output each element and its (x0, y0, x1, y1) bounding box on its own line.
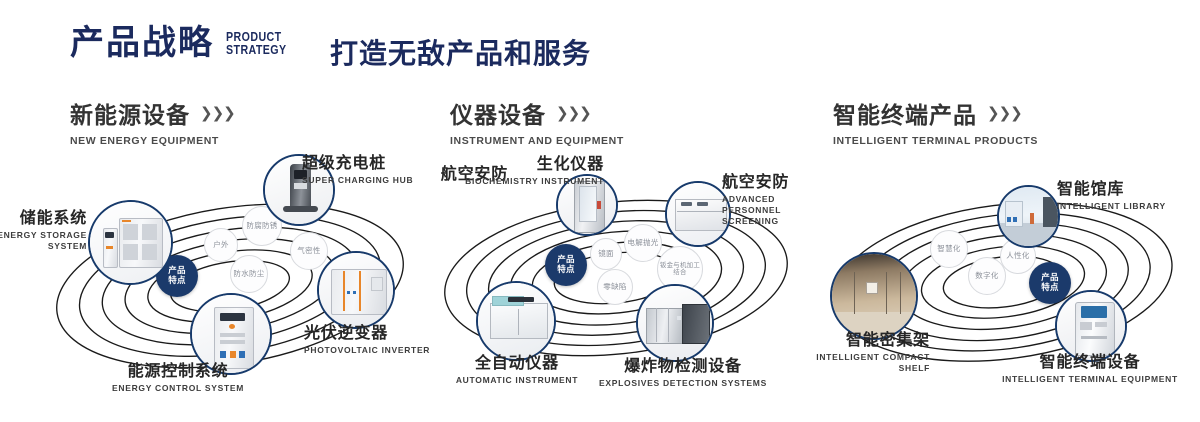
node-label-cn: 生化仪器 (444, 156, 604, 174)
diagram-instrument: 产品 特点 镜面 电解抛光 钣金与机加工结合 零缺陷 (420, 150, 820, 412)
core-badge-line2: 特点 (557, 265, 575, 275)
page-title: 产品战略 (70, 26, 214, 60)
node-label-cn: 超级充电桩 (302, 155, 413, 173)
photo-energy-storage (90, 202, 171, 283)
section-title-cn: 智能终端产品 ❯❯❯ (833, 96, 1038, 130)
node-label-terminal-equipment: 智能终端设备 INTELLIGENT TERMINAL EQUIPMENT (995, 354, 1185, 385)
photo-pv-inverter (319, 253, 393, 327)
photo-automatic-instrument (478, 283, 554, 359)
section-title-new-energy: 新能源设备 ❯❯❯ NEW ENERGY EQUIPMENT (70, 96, 235, 147)
photo-terminal-equipment (1057, 292, 1125, 360)
node-label-energy-control: 能源控制系统 ENERGY CONTROL SYSTEM (88, 363, 268, 394)
feature-circle-smart: 智慧化 (930, 230, 968, 268)
node-label-biochemistry: 生化仪器 BIOCHEMISTRY INSTRUMENT (444, 156, 604, 187)
photo-bubble-terminal-equipment[interactable] (1055, 290, 1127, 362)
section-title-cn: 新能源设备 ❯❯❯ (70, 96, 235, 130)
node-label-automatic-instrument: 全自动仪器 AUTOMATIC INSTRUMENT (436, 355, 598, 386)
node-label-en: ENERGY CONTROL SYSTEM (88, 383, 268, 394)
section-title-cn: 仪器设备 ❯❯❯ (450, 96, 624, 130)
photo-bubble-intelligent-library[interactable] (997, 185, 1060, 248)
section-title-en: NEW ENERGY EQUIPMENT (70, 135, 235, 147)
node-label-intelligent-library: 智能馆库 INTELLIGENT LIBRARY (1057, 181, 1166, 212)
header-title-block: 产品战略 PRODUCT STRATEGY (70, 26, 300, 60)
section-title-cn-text: 智能终端产品 (833, 96, 977, 130)
photo-bubble-pv-inverter[interactable] (317, 251, 395, 329)
node-label-compact-shelf: 智能密集架 INTELLIGENT COMPACT SHELF (790, 332, 930, 374)
section-title-intelligent-terminal: 智能终端产品 ❯❯❯ INTELLIGENT TERMINAL PRODUCTS (833, 96, 1038, 147)
photo-explosives-detection (638, 286, 712, 360)
diagram-intelligent-terminal: 智慧化 数字化 人性化 产品 特点 (810, 150, 1200, 412)
feature-circle-waterproof: 防水防尘 (230, 255, 268, 293)
node-label-energy-storage: 储能系统 ENERGY STORAGE SYSTEM (0, 210, 87, 252)
section-title-en: INSTRUMENT AND EQUIPMENT (450, 135, 624, 147)
page-slogan: 打造无敌产品和服务 (330, 32, 591, 72)
chevron-right-icon: ❯❯❯ (987, 104, 1022, 122)
photo-screening (667, 183, 729, 245)
photo-bubble-automatic-instrument[interactable] (476, 281, 556, 361)
page-title-english-line2: STRATEGY (226, 43, 287, 56)
node-label-en: AUTOMATIC INSTRUMENT (436, 375, 598, 386)
section-title-en: INTELLIGENT TERMINAL PRODUCTS (833, 135, 1038, 147)
node-label-en: EXPLOSIVES DETECTION SYSTEMS (598, 378, 768, 389)
node-label-en: INTELLIGENT COMPACT SHELF (790, 352, 930, 373)
feature-circle-mirror: 镜面 (590, 238, 622, 270)
chevron-right-icon: ❯❯❯ (556, 104, 591, 122)
node-label-cn: 储能系统 (0, 210, 87, 228)
node-label-en: SUPER CHARGING HUB (302, 175, 413, 186)
poster-canvas: 产品战略 PRODUCT STRATEGY 打造无敌产品和服务 新能源设备 ❯❯… (0, 0, 1200, 422)
node-label-en: ENERGY STORAGE SYSTEM (0, 230, 87, 251)
feature-circle-zero-defect: 零缺陷 (597, 269, 633, 305)
diagram-new-energy: 产品 特点 户外 防腐防锈 气密性 防水防尘 (30, 150, 430, 412)
photo-bubble-energy-storage[interactable] (88, 200, 173, 285)
node-label-cn: 智能终端设备 (995, 354, 1185, 372)
node-label-charging-hub: 超级充电桩 SUPER CHARGING HUB (302, 155, 413, 186)
node-label-en: INTELLIGENT TERMINAL EQUIPMENT (995, 374, 1185, 385)
node-label-cn: 爆炸物检测设备 (598, 358, 768, 376)
photo-bubble-compact-shelf[interactable] (830, 252, 918, 340)
node-label-cn: 全自动仪器 (436, 355, 598, 373)
node-label-cn: 光伏逆变器 (304, 325, 430, 343)
photo-energy-control (192, 295, 270, 373)
node-label-pv-inverter: 光伏逆变器 PHOTOVOLTAIC INVERTER (304, 325, 430, 356)
photo-bubble-explosives-detection[interactable] (636, 284, 714, 362)
core-badge-product-features: 产品 特点 (545, 244, 587, 286)
node-label-cn: 能源控制系统 (88, 363, 268, 381)
section-title-instrument: 仪器设备 ❯❯❯ INSTRUMENT AND EQUIPMENT (450, 96, 624, 147)
section-title-cn-text: 仪器设备 (450, 96, 546, 130)
node-label-en: PHOTOVOLTAIC INVERTER (304, 345, 430, 356)
node-label-explosives-detection: 爆炸物检测设备 EXPLOSIVES DETECTION SYSTEMS (598, 358, 768, 389)
photo-compact-shelf (832, 254, 916, 338)
node-label-cn: 智能密集架 (790, 332, 930, 350)
photo-intelligent-library (999, 187, 1058, 246)
page-title-english: PRODUCT STRATEGY (226, 30, 287, 56)
feature-circle-outdoor: 户外 (204, 228, 238, 262)
node-label-en: INTELLIGENT LIBRARY (1057, 201, 1166, 212)
section-title-cn-text: 新能源设备 (70, 96, 190, 130)
feature-circle-electropolish: 电解抛光 (624, 224, 662, 262)
node-label-cn: 智能馆库 (1057, 181, 1166, 199)
chevron-right-icon: ❯❯❯ (200, 104, 235, 122)
node-label-en: BIOCHEMISTRY INSTRUMENT (444, 176, 604, 187)
